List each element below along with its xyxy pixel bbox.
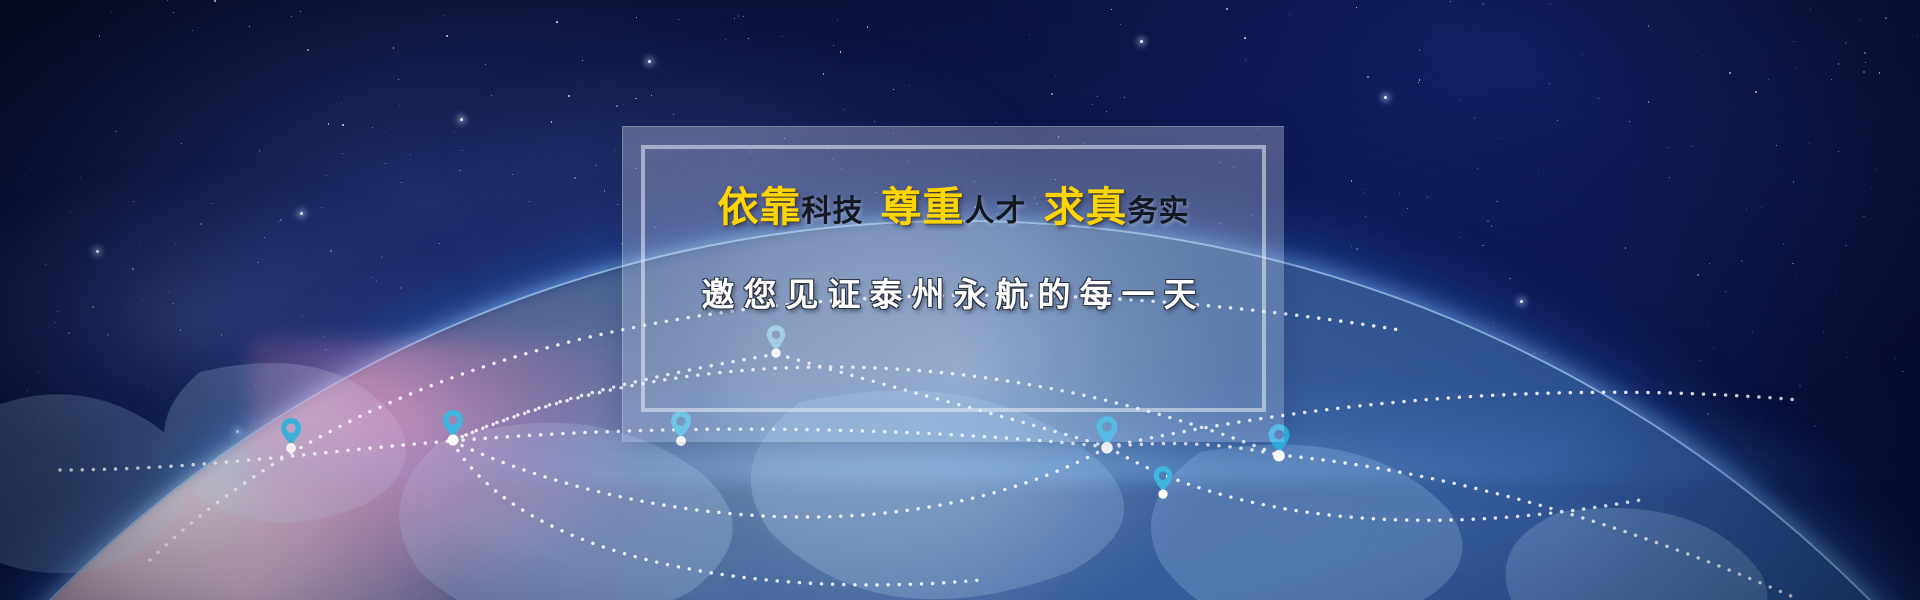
sunrise-terminator xyxy=(250,340,670,600)
slogan-text-block: 依靠科技尊重人才求真务实 邀您见证泰州永航的每一天 xyxy=(623,187,1284,316)
headline-segment-3: 尊重 xyxy=(881,183,965,231)
nebula-glow-left xyxy=(0,170,480,470)
headline-segment-5: 求真 xyxy=(1044,183,1128,231)
headline-slogan: 依靠科技尊重人才求真务实 xyxy=(623,187,1284,228)
subline-slogan: 邀您见证泰州永航的每一天 xyxy=(623,268,1284,316)
headline-segment-2: 科技 xyxy=(802,194,864,229)
headline-segment-1: 依靠 xyxy=(718,183,802,231)
headline-segment-4: 人才 xyxy=(965,194,1027,229)
location-pin-icon xyxy=(1150,464,1176,500)
location-pin-icon xyxy=(277,416,305,454)
headline-segment-6: 务实 xyxy=(1128,194,1190,229)
slogan-panel: 依靠科技尊重人才求真务实 邀您见证泰州永航的每一天 xyxy=(622,126,1284,442)
banner-stage: 依靠科技尊重人才求真务实 邀您见证泰州永航的每一天 xyxy=(0,0,1920,600)
location-pin-icon xyxy=(439,408,467,446)
